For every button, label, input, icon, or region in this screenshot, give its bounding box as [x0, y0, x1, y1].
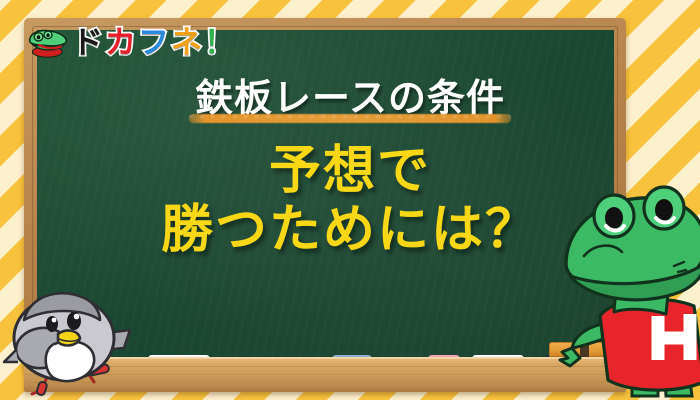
- thumbnail-stage: ド カ フ ネ ！ 鉄板レースの条件 予想で 勝つためには？: [0, 0, 700, 400]
- logo-char-0: ド: [72, 28, 102, 59]
- logo-char-3: ネ: [171, 28, 201, 59]
- subtitle-text: 鉄板レースの条件: [195, 78, 505, 119]
- logo-crocodile-icon: [27, 26, 69, 60]
- subtitle-underline: [189, 114, 511, 123]
- logo-char-4: ！: [204, 28, 234, 59]
- site-logo[interactable]: ド カ フ ネ ！: [27, 26, 234, 60]
- bird-mascot: [2, 278, 142, 396]
- logo-char-1: カ: [105, 28, 135, 59]
- subtitle-wrap: 鉄板レースの条件: [185, 78, 515, 119]
- crocodile-mascot: [554, 182, 700, 400]
- logo-char-2: フ: [138, 28, 168, 59]
